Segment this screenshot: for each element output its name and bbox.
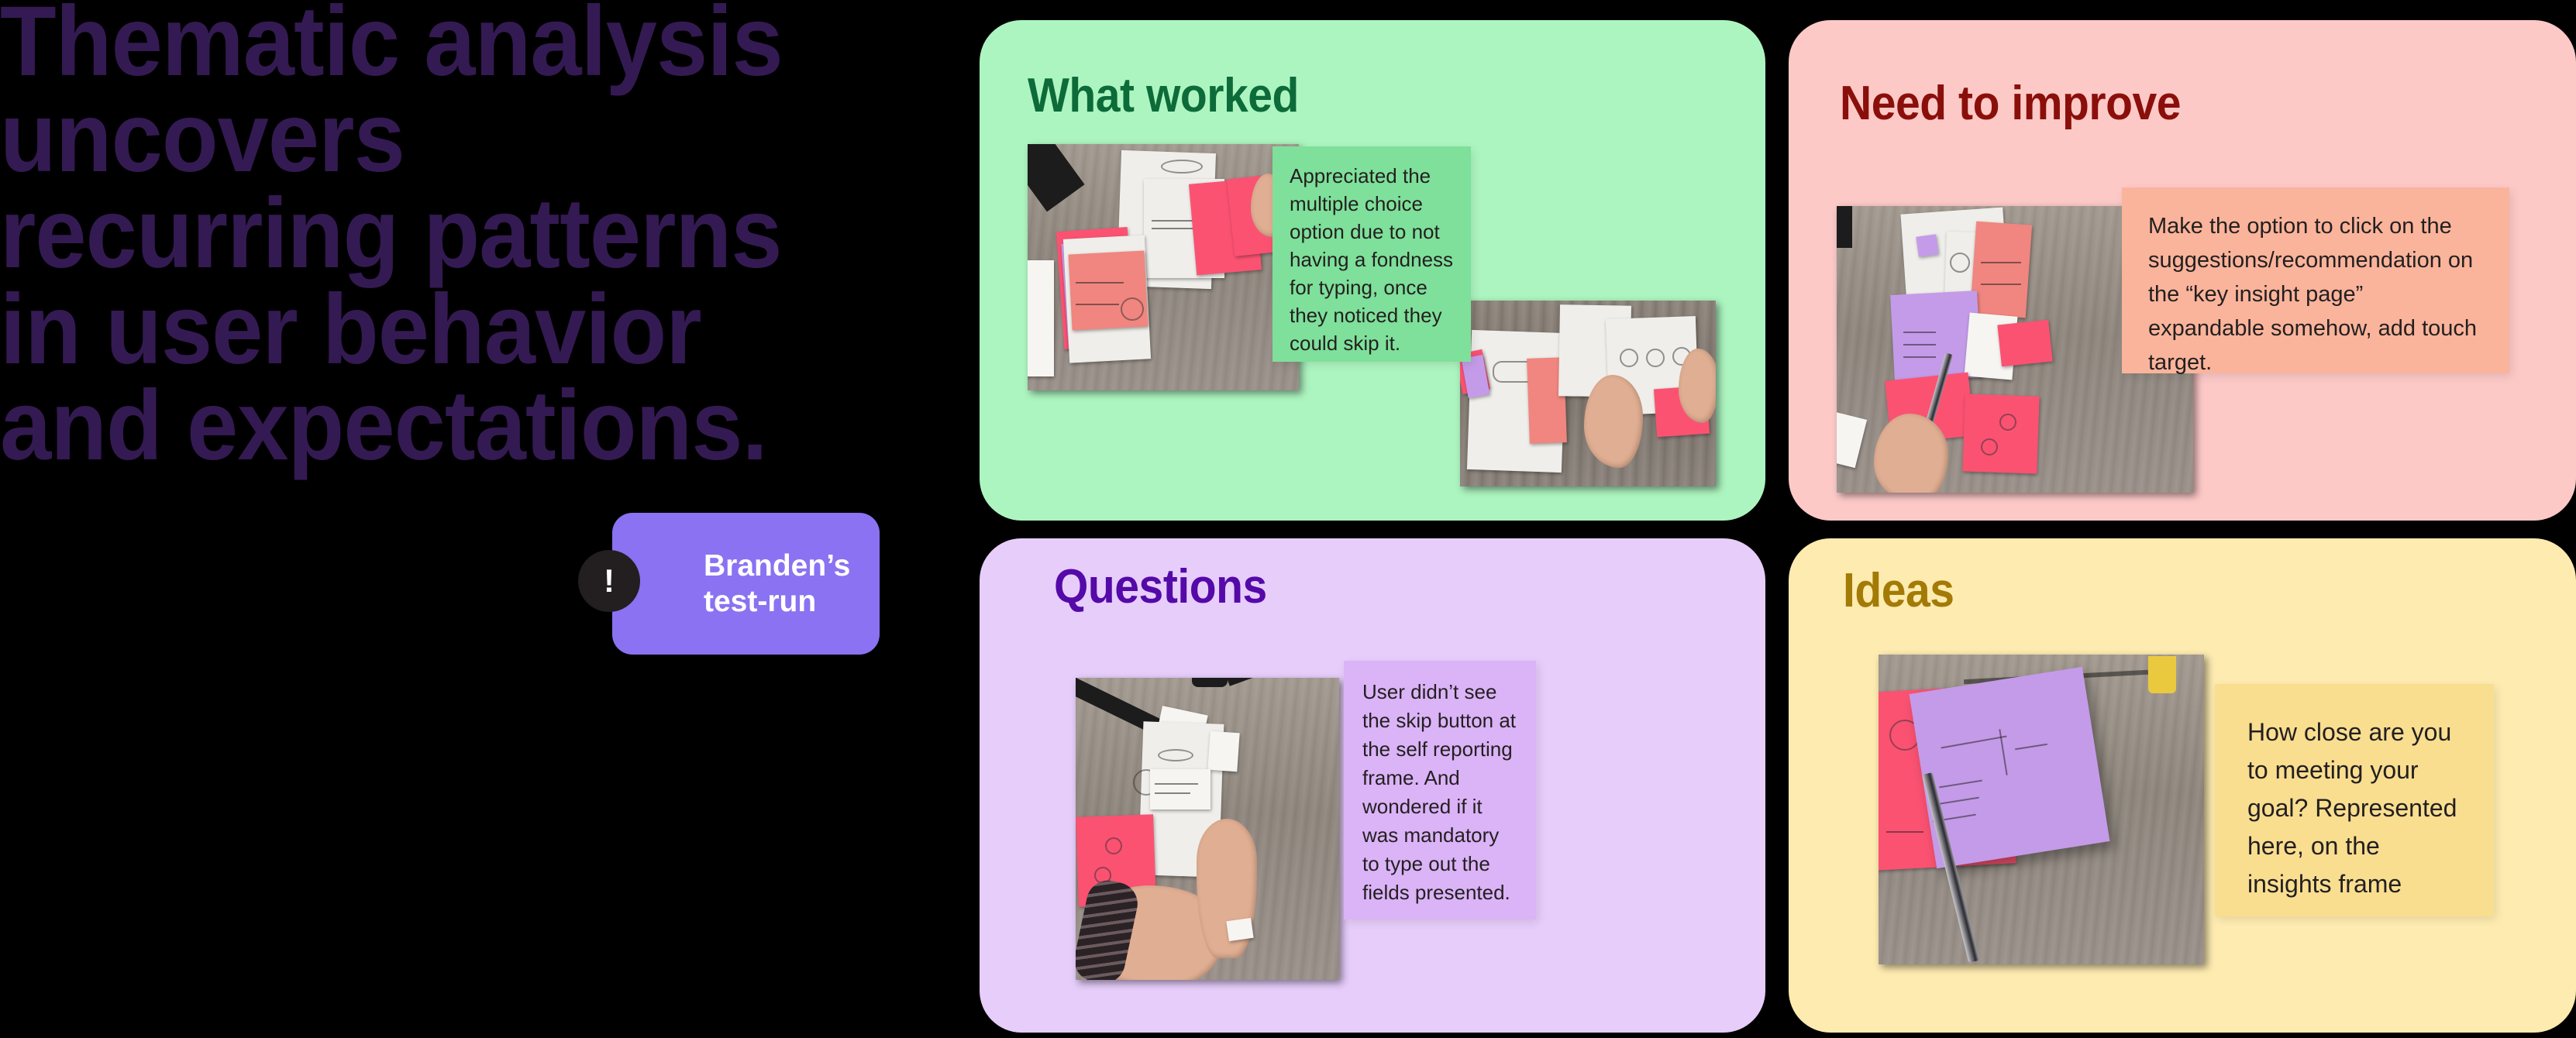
hands-holding-paper-prototype-photo — [1460, 301, 1716, 486]
sticky-note-what-worked: Appreciated the multiple choice option d… — [1273, 146, 1471, 362]
card-ideas[interactable]: Ideas How close are you to meeting your … — [1789, 538, 2576, 1033]
purple-sticky-note-key-insights-photo — [1879, 655, 2204, 964]
card-questions[interactable]: Questions User didn’t see the skip butto… — [980, 538, 1765, 1033]
sticky-note-text: Appreciated the multiple choice option d… — [1290, 162, 1454, 357]
sticky-note-text: User didn’t see the skip button at the s… — [1362, 678, 1519, 907]
left-panel: Thematic analysis uncovers recurring pat… — [0, 0, 961, 1038]
card-title-ideas: Ideas — [1843, 563, 1954, 618]
sticky-note-need-to-improve: Make the option to click on the suggesti… — [2122, 187, 2509, 373]
sticky-note-text: How close are you to meeting your goal? … — [2247, 713, 2463, 903]
alert-exclamation-icon: ! — [578, 550, 640, 612]
card-title-need-to-improve: Need to improve — [1840, 76, 2181, 131]
card-title-questions: Questions — [1054, 559, 1267, 614]
hands-pointing-at-paper-prototype-photo — [1076, 678, 1339, 980]
paper-prototype-cards-on-desk-photo — [1028, 144, 1299, 390]
card-need-to-improve[interactable]: Need to improve Make th — [1789, 20, 2576, 521]
sticky-note-ideas: How close are you to meeting your goal? … — [2215, 684, 2494, 916]
page-title: Thematic analysis uncovers recurring pat… — [0, 0, 814, 474]
card-what-worked[interactable]: What worked — [980, 20, 1765, 521]
sticky-note-questions: User didn’t see the skip button at the s… — [1344, 661, 1536, 919]
test-run-badge-label: Branden’s test-run — [704, 548, 850, 620]
sticky-note-text: Make the option to click on the suggesti… — [2148, 209, 2485, 380]
card-title-what-worked: What worked — [1028, 68, 1299, 123]
test-run-badge[interactable]: Branden’s test-run — [612, 513, 880, 655]
slide-canvas: Thematic analysis uncovers recurring pat… — [0, 0, 2576, 1038]
